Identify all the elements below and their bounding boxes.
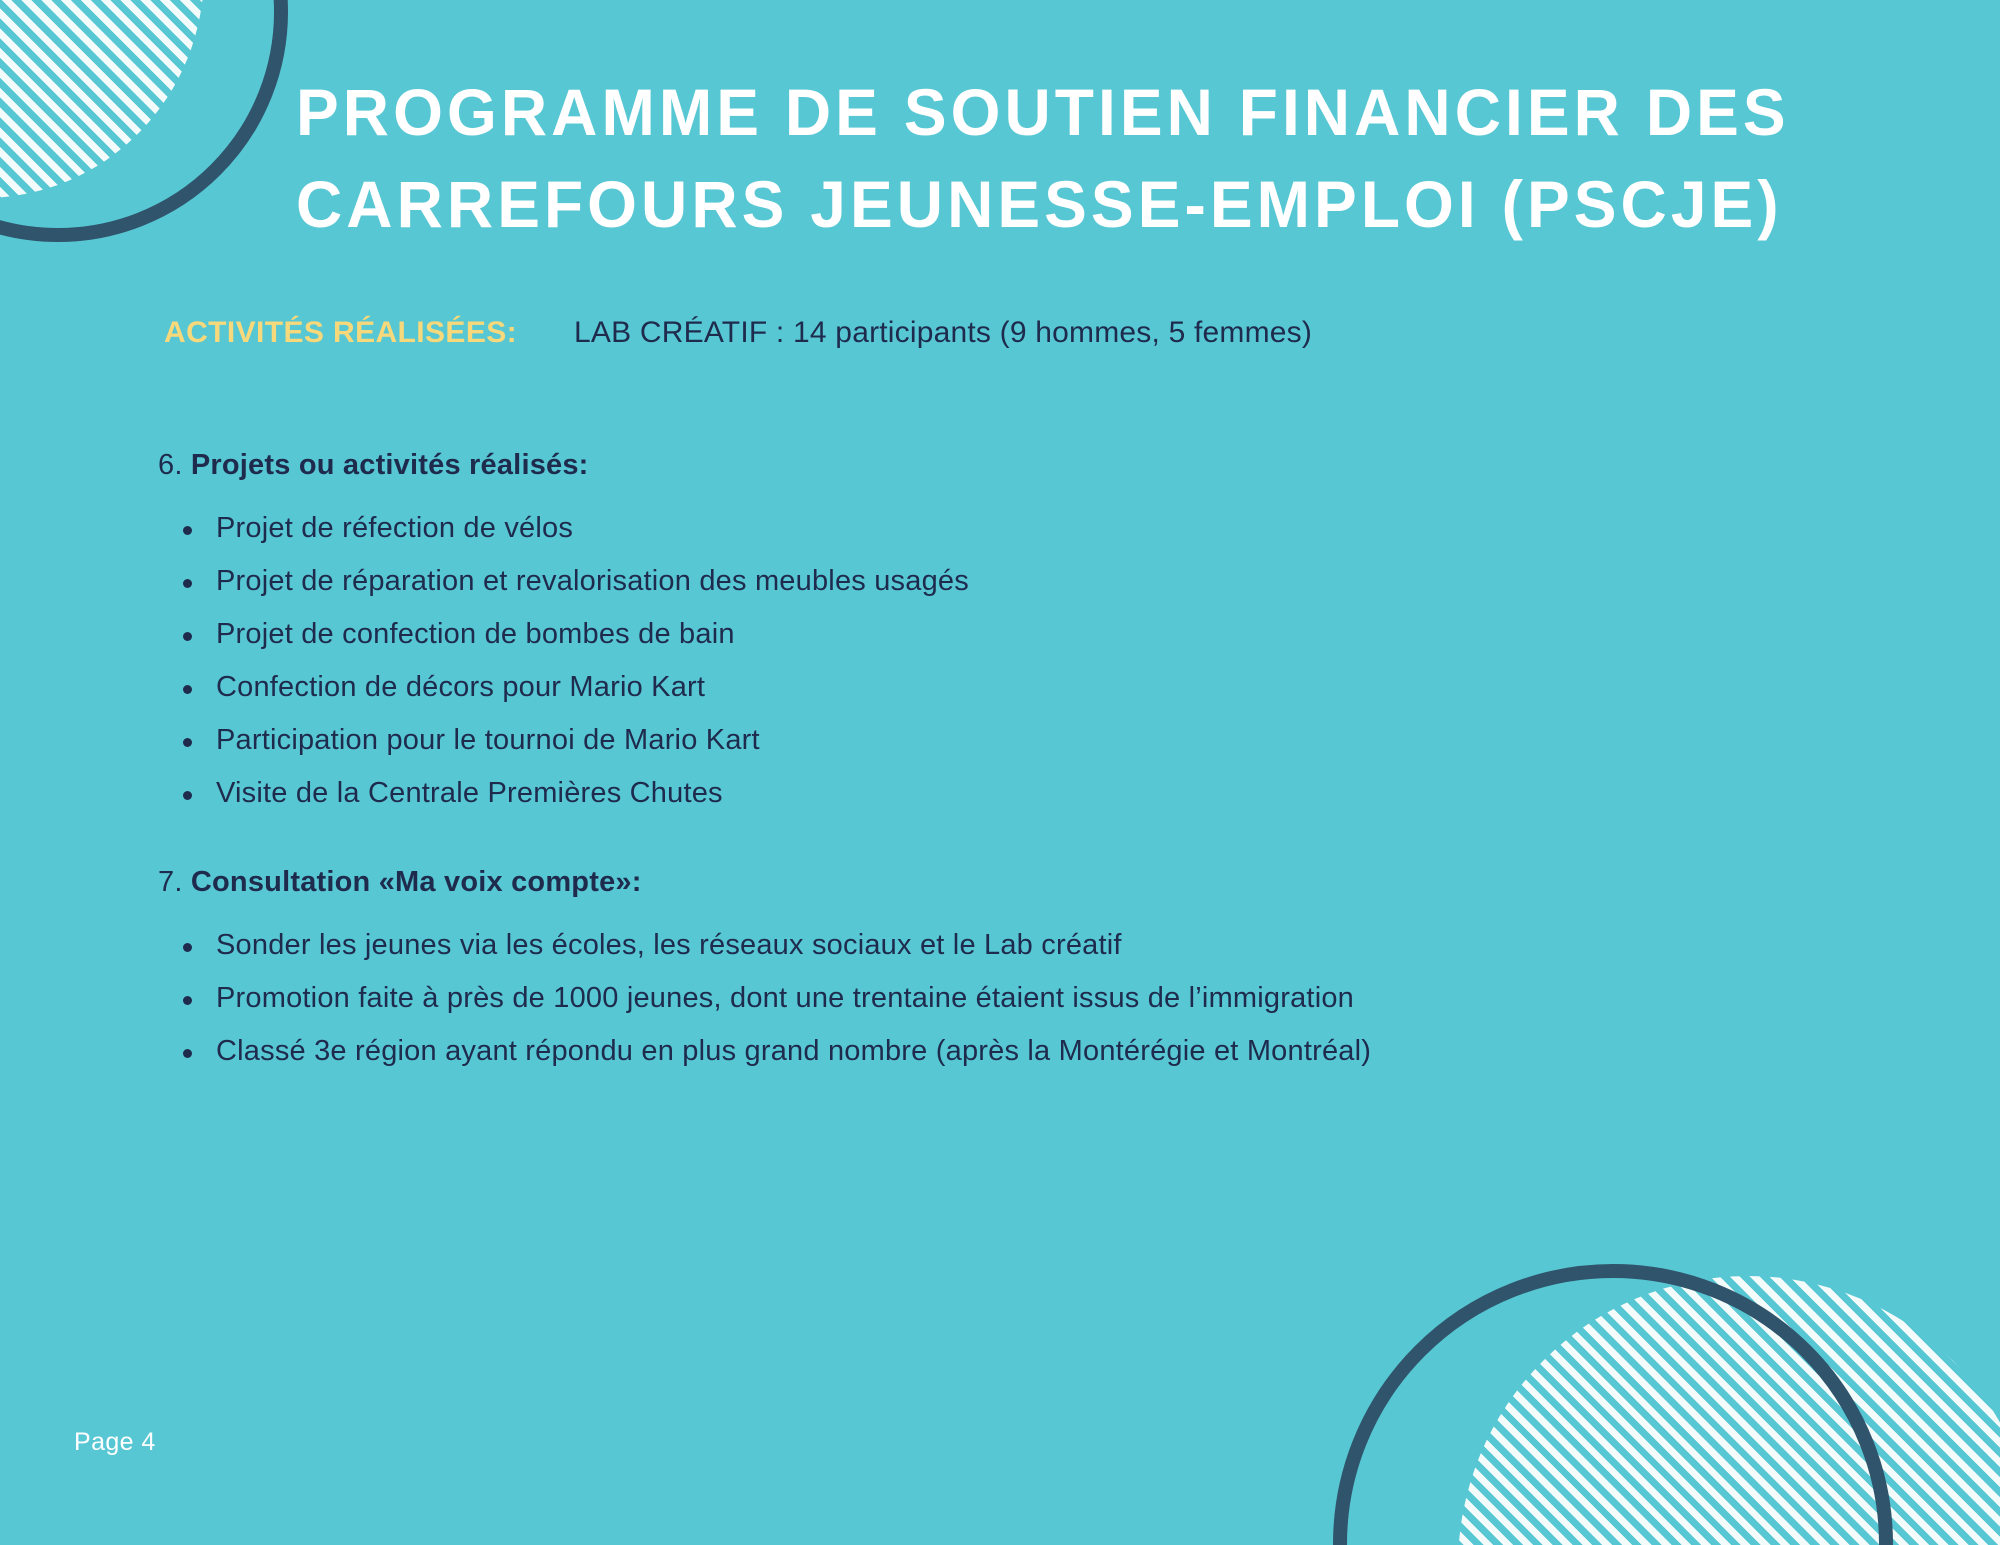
top-left-ring-icon (0, 0, 288, 242)
section-title: Projets ou activités réalisés: (191, 449, 589, 481)
page-number: Page 4 (74, 1428, 156, 1457)
activities-row: ACTIVITÉS RÉALISÉES: LAB CRÉATIF : 14 pa… (164, 316, 1312, 350)
activities-value: LAB CRÉATIF : 14 participants (9 hommes,… (574, 316, 1312, 350)
list-item: Sonder les jeunes via les écoles, les ré… (158, 919, 1858, 972)
top-left-striped-circle-icon (0, 0, 204, 198)
slide-title: PROGRAMME DE SOUTIEN FINANCIER DES CARRE… (296, 66, 1906, 250)
list-item: Projet de réfection de vélos (158, 502, 1858, 555)
list-item: Projet de réparation et revalorisation d… (158, 555, 1858, 608)
list-item: Promotion faite à près de 1000 jeunes, d… (158, 972, 1858, 1025)
bullet-list: Projet de réfection de vélos Projet de r… (158, 502, 1858, 820)
list-item: Confection de décors pour Mario Kart (158, 661, 1858, 714)
section-number: 6. (158, 449, 183, 481)
slide-body: 6. Projets ou activités réalisés: Projet… (158, 445, 1858, 1078)
bullet-list: Sonder les jeunes via les écoles, les ré… (158, 919, 1858, 1078)
section-consultation: 7. Consultation «Ma voix compte»: Sonder… (158, 862, 1858, 1078)
bottom-right-ring-icon (1333, 1264, 1893, 1545)
list-item: Projet de confection de bombes de bain (158, 608, 1858, 661)
section-heading: 7. Consultation «Ma voix compte»: (158, 862, 1858, 902)
section-projets: 6. Projets ou activités réalisés: Projet… (158, 445, 1858, 820)
slide-canvas: PROGRAMME DE SOUTIEN FINANCIER DES CARRE… (0, 0, 2000, 1545)
section-title: Consultation «Ma voix compte»: (191, 866, 642, 898)
section-number: 7. (158, 866, 183, 898)
list-item: Classé 3e région ayant répondu en plus g… (158, 1025, 1858, 1078)
list-item: Participation pour le tournoi de Mario K… (158, 714, 1858, 767)
list-item: Visite de la Centrale Premières Chutes (158, 767, 1858, 820)
bottom-right-striped-circle-icon (1458, 1276, 2000, 1545)
section-heading: 6. Projets ou activités réalisés: (158, 445, 1858, 485)
activities-label: ACTIVITÉS RÉALISÉES: (164, 316, 517, 350)
